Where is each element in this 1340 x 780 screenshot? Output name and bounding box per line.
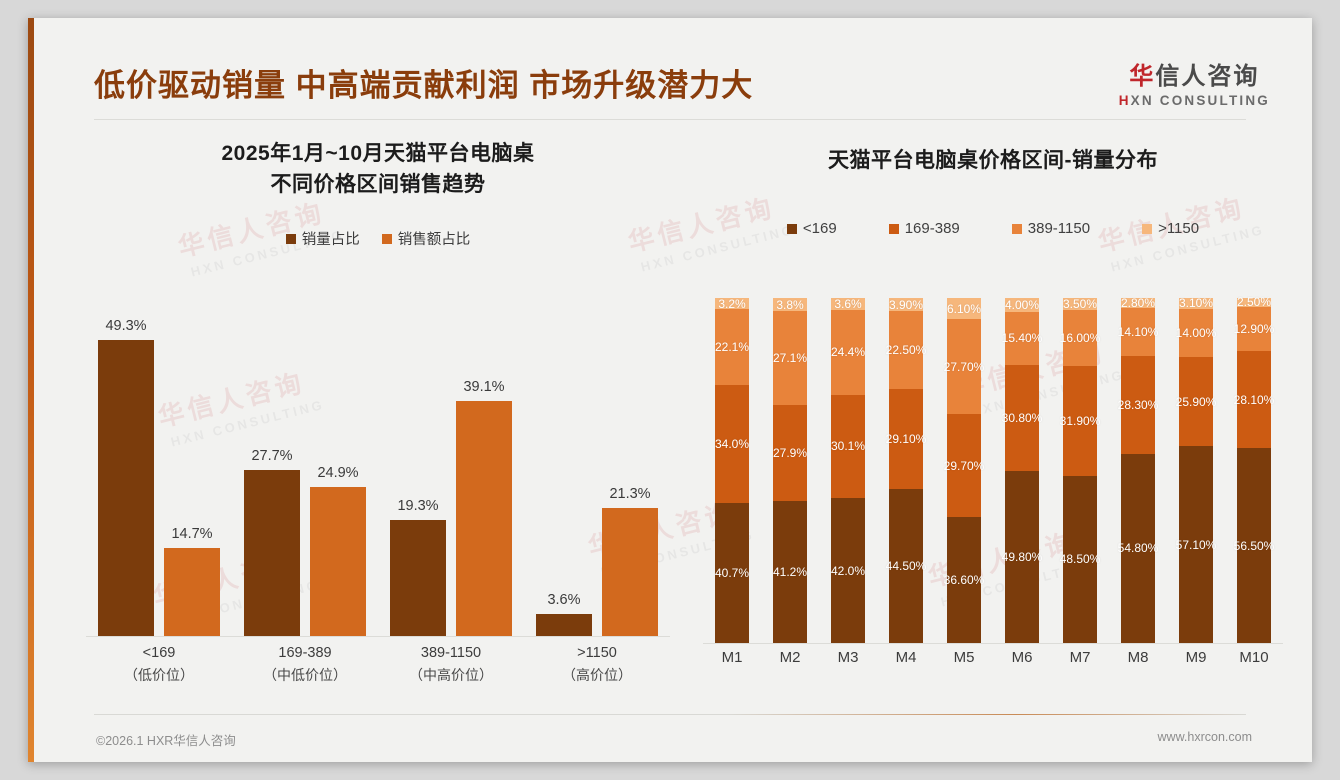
legend-swatch-icon	[889, 224, 899, 234]
chart-right-axis	[703, 643, 1283, 644]
x-axis-label-month: M4	[878, 649, 934, 666]
stacked-bar-segment[interactable]: 2.80%	[1121, 298, 1155, 308]
segment-value-label: 29.70%	[944, 459, 985, 473]
footer-url: www.hxrcon.com	[1158, 730, 1252, 744]
stacked-bar-segment[interactable]: 3.8%	[773, 298, 807, 311]
stacked-bar-column[interactable]: 2.50%12.90%28.10%56.50%	[1237, 298, 1271, 643]
stacked-bar-segment[interactable]: 29.10%	[889, 389, 923, 489]
x-axis-label-sub: （高价位）	[524, 664, 670, 686]
stacked-bar-segment[interactable]: 22.1%	[715, 309, 749, 385]
legend-right-item[interactable]: >1150	[1142, 220, 1199, 237]
stacked-bar-column[interactable]: 3.8%27.1%27.9%41.2%	[773, 298, 807, 643]
stacked-bar-segment[interactable]: 6.10%	[947, 298, 981, 319]
stacked-bar-segment[interactable]: 14.00%	[1179, 309, 1213, 357]
chart-left-xlabels: <169（低价位）169-389（中低价位）389-1150（中高价位）>115…	[86, 642, 670, 702]
segment-value-label: 3.90%	[889, 298, 923, 312]
segment-value-label: 34.0%	[715, 437, 749, 451]
x-axis-label-month: M6	[994, 649, 1050, 666]
segment-value-label: 27.1%	[773, 351, 807, 365]
bar-volume[interactable]: 3.6%	[536, 614, 592, 636]
chart-panel-left: 2025年1月~10月天猫平台电脑桌 不同价格区间销售趋势 销量占比销售额占比 …	[68, 138, 688, 698]
legend-left-item[interactable]: 销量占比	[286, 228, 360, 249]
bar-fill	[602, 508, 658, 636]
stacked-bar-segment[interactable]: 14.10%	[1121, 308, 1155, 357]
legend-right-label: 389-1150	[1028, 220, 1090, 237]
stacked-bar-segment[interactable]: 57.10%	[1179, 446, 1213, 643]
chart-panel-right: 天猫平台电脑桌价格区间-销量分布 <169169-389389-1150>115…	[693, 138, 1293, 698]
x-axis-label-month: M10	[1226, 649, 1282, 666]
segment-value-label: 3.6%	[834, 297, 861, 311]
chart-left-plot: 49.3%14.7%27.7%24.9%19.3%39.1%3.6%21.3%	[86, 306, 670, 636]
bar-value-label: 49.3%	[105, 318, 146, 334]
slide-header: 低价驱动销量 中高端贡献利润 市场升级潜力大 华信人咨询 HXN CONSULT…	[28, 18, 1312, 120]
stacked-bar-segment[interactable]: 16.00%	[1063, 310, 1097, 365]
legend-right-item[interactable]: 389-1150	[1012, 220, 1090, 237]
stacked-bar-column[interactable]: 3.10%14.00%25.90%57.10%	[1179, 298, 1213, 643]
stacked-bar-segment[interactable]: 54.80%	[1121, 454, 1155, 643]
bar-value-label: 14.7%	[171, 526, 212, 542]
stacked-bar-segment[interactable]: 44.50%	[889, 489, 923, 643]
x-axis-label: >1150（高价位）	[524, 642, 670, 686]
stacked-bar-segment[interactable]: 22.50%	[889, 311, 923, 389]
segment-value-label: 28.10%	[1234, 393, 1275, 407]
segment-value-label: 57.10%	[1176, 538, 1217, 552]
chart-right-plot: 3.2%22.1%34.0%40.7%3.8%27.1%27.9%41.2%3.…	[703, 298, 1283, 643]
x-axis-label-main: >1150	[577, 645, 617, 661]
bar-value-label: 21.3%	[609, 486, 650, 502]
legend-right-label: <169	[803, 220, 837, 237]
stacked-bar-segment[interactable]: 42.0%	[831, 498, 865, 643]
stacked-bar-segment[interactable]: 25.90%	[1179, 357, 1213, 446]
legend-swatch-icon	[787, 224, 797, 234]
legend-swatch-icon	[382, 234, 392, 244]
stacked-bar-segment[interactable]: 40.7%	[715, 503, 749, 643]
footer-copyright: ©2026.1 HXR华信人咨询	[96, 730, 236, 749]
x-axis-label-month: M1	[704, 649, 760, 666]
stacked-bar-segment[interactable]: 3.2%	[715, 298, 749, 309]
stacked-bar-segment[interactable]: 28.10%	[1237, 351, 1271, 448]
segment-value-label: 29.10%	[886, 432, 927, 446]
bar-fill	[390, 520, 446, 636]
stacked-bar-segment[interactable]: 15.40%	[1005, 312, 1039, 365]
x-axis-label-main: 169-389	[278, 645, 331, 661]
bar-fill	[98, 340, 154, 636]
logo-cn-accent: 华	[1129, 63, 1155, 90]
legend-left-label: 销售额占比	[398, 228, 471, 249]
legend-right-item[interactable]: 169-389	[889, 220, 960, 237]
stacked-bar-column[interactable]: 4.00%15.40%30.80%49.80%	[1005, 298, 1039, 643]
left-accent-bar	[28, 18, 34, 762]
stacked-bar-column[interactable]: 3.2%22.1%34.0%40.7%	[715, 298, 749, 643]
x-axis-label-month: M7	[1052, 649, 1108, 666]
segment-value-label: 24.4%	[831, 345, 865, 359]
legend-left-label: 销量占比	[302, 228, 360, 249]
stacked-bar-segment[interactable]: 27.1%	[773, 311, 807, 404]
segment-value-label: 54.80%	[1118, 541, 1159, 555]
bar-value-label: 3.6%	[547, 592, 580, 608]
stacked-bar-segment[interactable]: 4.00%	[1005, 298, 1039, 312]
bar-revenue[interactable]: 39.1%	[456, 401, 512, 636]
stacked-bar-segment[interactable]: 41.2%	[773, 501, 807, 643]
bar-value-label: 19.3%	[397, 498, 438, 514]
chart-left-legend: 销量占比销售额占比	[68, 228, 688, 249]
legend-right-item[interactable]: <169	[787, 220, 837, 237]
x-axis-label-sub: （中高价位）	[378, 664, 524, 686]
stacked-bar-segment[interactable]: 3.90%	[889, 298, 923, 311]
x-axis-label-sub: （低价位）	[86, 664, 232, 686]
legend-right-label: >1150	[1158, 220, 1199, 237]
chart-right-legend: <169169-389389-1150>1150	[693, 220, 1293, 237]
segment-value-label: 22.50%	[886, 343, 927, 357]
bar-group: 27.7%24.9%	[232, 306, 378, 636]
stacked-bar-segment[interactable]: 3.50%	[1063, 298, 1097, 310]
segment-value-label: 49.80%	[1002, 550, 1043, 564]
stacked-bar-segment[interactable]: 2.50%	[1237, 298, 1271, 307]
chart-right-xlabels: M1M2M3M4M5M6M7M8M9M10	[703, 649, 1283, 679]
logo-en-accent: H	[1119, 93, 1131, 108]
segment-value-label: 31.90%	[1060, 414, 1101, 428]
logo-english: HXN CONSULTING	[1119, 93, 1270, 108]
segment-value-label: 27.70%	[944, 360, 985, 374]
x-axis-label: 389-1150（中高价位）	[378, 642, 524, 686]
bar-value-label: 27.7%	[251, 448, 292, 464]
x-axis-label-sub: （中低价位）	[232, 664, 378, 686]
segment-value-label: 56.50%	[1234, 539, 1275, 553]
legend-swatch-icon	[286, 234, 296, 244]
bar-fill	[244, 470, 300, 636]
bar-fill	[536, 614, 592, 636]
bar-fill	[310, 487, 366, 636]
segment-value-label: 27.9%	[773, 446, 807, 460]
stacked-bar-segment[interactable]: 48.50%	[1063, 476, 1097, 643]
page-title: 低价驱动销量 中高端贡献利润 市场升级潜力大	[94, 60, 753, 105]
header-divider	[94, 119, 1246, 120]
brand-logo: 华信人咨询 HXN CONSULTING	[1119, 56, 1270, 108]
x-axis-label-month: M8	[1110, 649, 1166, 666]
stacked-bar-segment[interactable]: 36.60%	[947, 517, 981, 643]
stacked-bar-segment[interactable]: 12.90%	[1237, 307, 1271, 352]
x-axis-label-month: M3	[820, 649, 876, 666]
stacked-bar-segment[interactable]: 3.10%	[1179, 298, 1213, 309]
stacked-bar-column[interactable]: 2.80%14.10%28.30%54.80%	[1121, 298, 1155, 643]
x-axis-label: <169（低价位）	[86, 642, 232, 686]
segment-value-label: 4.00%	[1005, 298, 1039, 312]
bar-revenue[interactable]: 24.9%	[310, 487, 366, 636]
stacked-bar-column[interactable]: 3.6%24.4%30.1%42.0%	[831, 298, 865, 643]
stacked-bar-segment[interactable]: 30.80%	[1005, 365, 1039, 471]
x-axis-label-main: 389-1150	[421, 645, 481, 661]
stacked-bar-segment[interactable]: 29.70%	[947, 414, 981, 516]
stacked-bar-segment[interactable]: 34.0%	[715, 385, 749, 502]
bar-value-label: 39.1%	[463, 379, 504, 395]
x-axis-label-month: M2	[762, 649, 818, 666]
stacked-bar-segment[interactable]: 28.30%	[1121, 356, 1155, 454]
x-axis-label-month: M9	[1168, 649, 1224, 666]
stacked-bar-column[interactable]: 6.10%27.70%29.70%36.60%	[947, 298, 981, 643]
x-axis-label-month: M5	[936, 649, 992, 666]
footer-divider	[94, 714, 1246, 715]
chart-left-title-line2: 不同价格区间销售趋势	[68, 169, 688, 200]
segment-value-label: 3.50%	[1063, 297, 1097, 311]
bar-fill	[164, 548, 220, 636]
stacked-bar-segment[interactable]: 49.80%	[1005, 471, 1039, 643]
bar-group: 49.3%14.7%	[86, 306, 232, 636]
segment-value-label: 41.2%	[773, 565, 807, 579]
chart-left-title: 2025年1月~10月天猫平台电脑桌 不同价格区间销售趋势	[68, 138, 688, 200]
logo-cn-rest: 信人咨询	[1155, 63, 1259, 90]
bar-value-label: 24.9%	[317, 465, 358, 481]
segment-value-label: 14.00%	[1176, 326, 1217, 340]
stacked-bar-segment[interactable]: 56.50%	[1237, 448, 1271, 643]
stacked-bar-segment[interactable]: 31.90%	[1063, 366, 1097, 476]
bar-volume[interactable]: 27.7%	[244, 470, 300, 636]
logo-en-rest: XN CONSULTING	[1131, 93, 1270, 108]
bar-revenue[interactable]: 14.7%	[164, 548, 220, 636]
segment-value-label: 6.10%	[947, 302, 981, 316]
chart-left-title-line1: 2025年1月~10月天猫平台电脑桌	[68, 138, 688, 169]
bar-volume[interactable]: 49.3%	[98, 340, 154, 636]
legend-left-item[interactable]: 销售额占比	[382, 228, 471, 249]
segment-value-label: 40.7%	[715, 566, 749, 580]
bar-volume[interactable]: 19.3%	[390, 520, 446, 636]
bar-group: 19.3%39.1%	[378, 306, 524, 636]
legend-swatch-icon	[1012, 224, 1022, 234]
stacked-bar-segment[interactable]: 27.9%	[773, 405, 807, 501]
x-axis-label: 169-389（中低价位）	[232, 642, 378, 686]
chart-left-axis	[86, 636, 670, 637]
segment-value-label: 16.00%	[1060, 331, 1101, 345]
bar-fill	[456, 401, 512, 636]
segment-value-label: 12.90%	[1234, 322, 1275, 336]
segment-value-label: 44.50%	[886, 559, 927, 573]
bar-revenue[interactable]: 21.3%	[602, 508, 658, 636]
segment-value-label: 14.10%	[1118, 325, 1159, 339]
bar-group: 3.6%21.3%	[524, 306, 670, 636]
stacked-bar-column[interactable]: 3.90%22.50%29.10%44.50%	[889, 298, 923, 643]
segment-value-label: 42.0%	[831, 564, 865, 578]
segment-value-label: 28.30%	[1118, 398, 1159, 412]
logo-chinese: 华信人咨询	[1119, 56, 1270, 91]
segment-value-label: 22.1%	[715, 340, 749, 354]
stacked-bar-segment[interactable]: 24.4%	[831, 310, 865, 394]
segment-value-label: 48.50%	[1060, 552, 1101, 566]
slide-canvas: 华信人咨询 HXN CONSULTING 华信人咨询 HXN CONSULTIN…	[28, 18, 1312, 762]
segment-value-label: 15.40%	[1002, 331, 1043, 345]
segment-value-label: 30.1%	[831, 439, 865, 453]
segment-value-label: 30.80%	[1002, 411, 1043, 425]
segment-value-label: 25.90%	[1176, 395, 1217, 409]
stacked-bar-segment[interactable]: 27.70%	[947, 319, 981, 414]
x-axis-label-main: <169	[143, 645, 176, 661]
segment-value-label: 3.8%	[776, 298, 803, 312]
legend-right-label: 169-389	[905, 220, 960, 237]
legend-swatch-icon	[1142, 224, 1152, 234]
stacked-bar-segment[interactable]: 3.6%	[831, 298, 865, 310]
stacked-bar-column[interactable]: 3.50%16.00%31.90%48.50%	[1063, 298, 1097, 643]
chart-right-title: 天猫平台电脑桌价格区间-销量分布	[693, 138, 1293, 176]
stacked-bar-segment[interactable]: 30.1%	[831, 395, 865, 499]
segment-value-label: 36.60%	[944, 573, 985, 587]
